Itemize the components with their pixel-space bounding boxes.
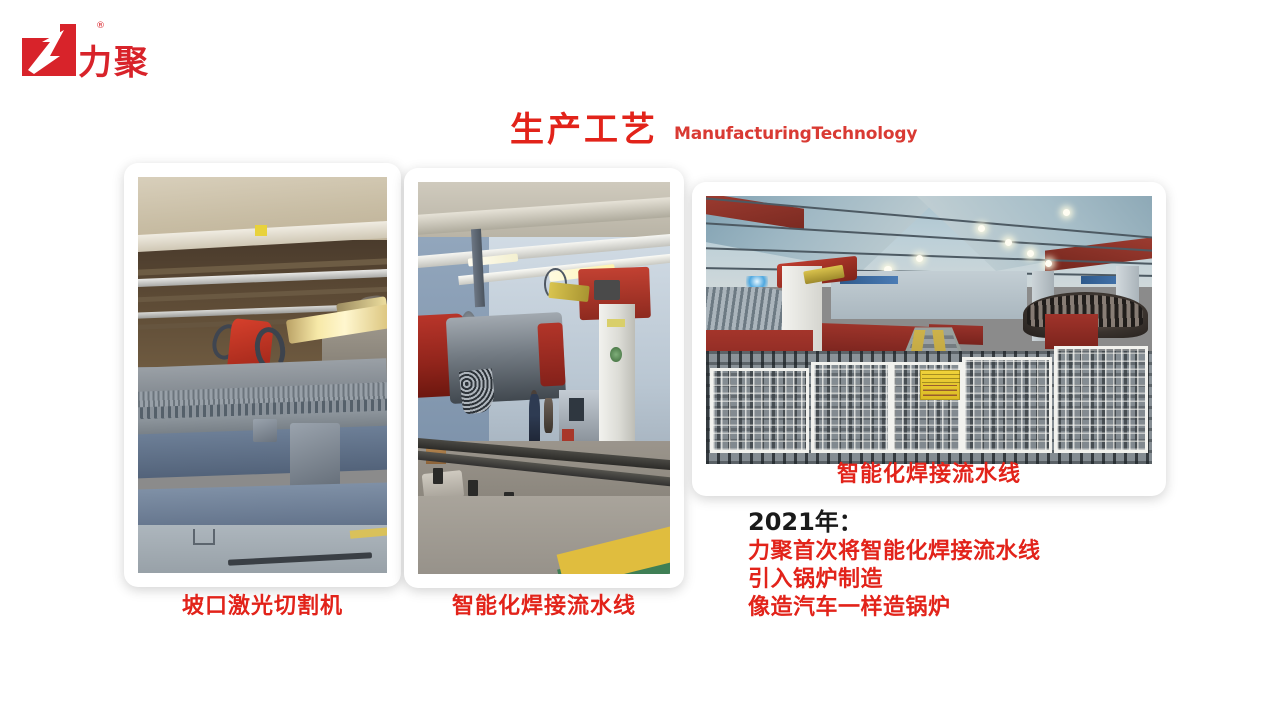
milestone-line-3: 像造汽车一样造锅炉 <box>748 594 1041 622</box>
photo-card-1[interactable] <box>124 163 401 587</box>
photo-card-2-caption: 智能化焊接流水线 <box>404 596 684 618</box>
photo-card-1-caption: 坡口激光切割机 <box>124 596 401 618</box>
intelligent-welding-line-photo <box>418 182 670 574</box>
photo-card-2[interactable] <box>404 168 684 588</box>
logo-wordmark: 力聚 <box>78 46 150 80</box>
title-chinese: 生产工艺 <box>510 112 658 149</box>
title-english: ManufacturingTechnology <box>674 124 917 144</box>
registered-symbol: ® <box>96 22 105 31</box>
page-title: 生产工艺 ManufacturingTechnology <box>510 112 917 149</box>
milestone-year: 2021年： <box>748 507 1041 538</box>
company-logo: ® 力聚 <box>20 22 200 82</box>
slide-root: ® 力聚 生产工艺 ManufacturingTechnology <box>0 0 1280 720</box>
photo-card-3-caption: 智能化焊接流水线 <box>706 464 1152 486</box>
intelligent-welding-production-line-wide-photo <box>706 196 1152 464</box>
photo-card-3[interactable]: 智能化焊接流水线 <box>692 182 1166 496</box>
safety-warning-sign-icon <box>920 370 960 399</box>
milestone-line-2: 引入锅炉制造 <box>748 566 1041 594</box>
milestone-text-block: 2021年： 力聚首次将智能化焊接流水线 引入锅炉制造 像造汽车一样造锅炉 <box>748 507 1041 622</box>
bevel-laser-cutting-machine-photo <box>138 177 387 573</box>
milestone-line-1: 力聚首次将智能化焊接流水线 <box>748 538 1041 566</box>
